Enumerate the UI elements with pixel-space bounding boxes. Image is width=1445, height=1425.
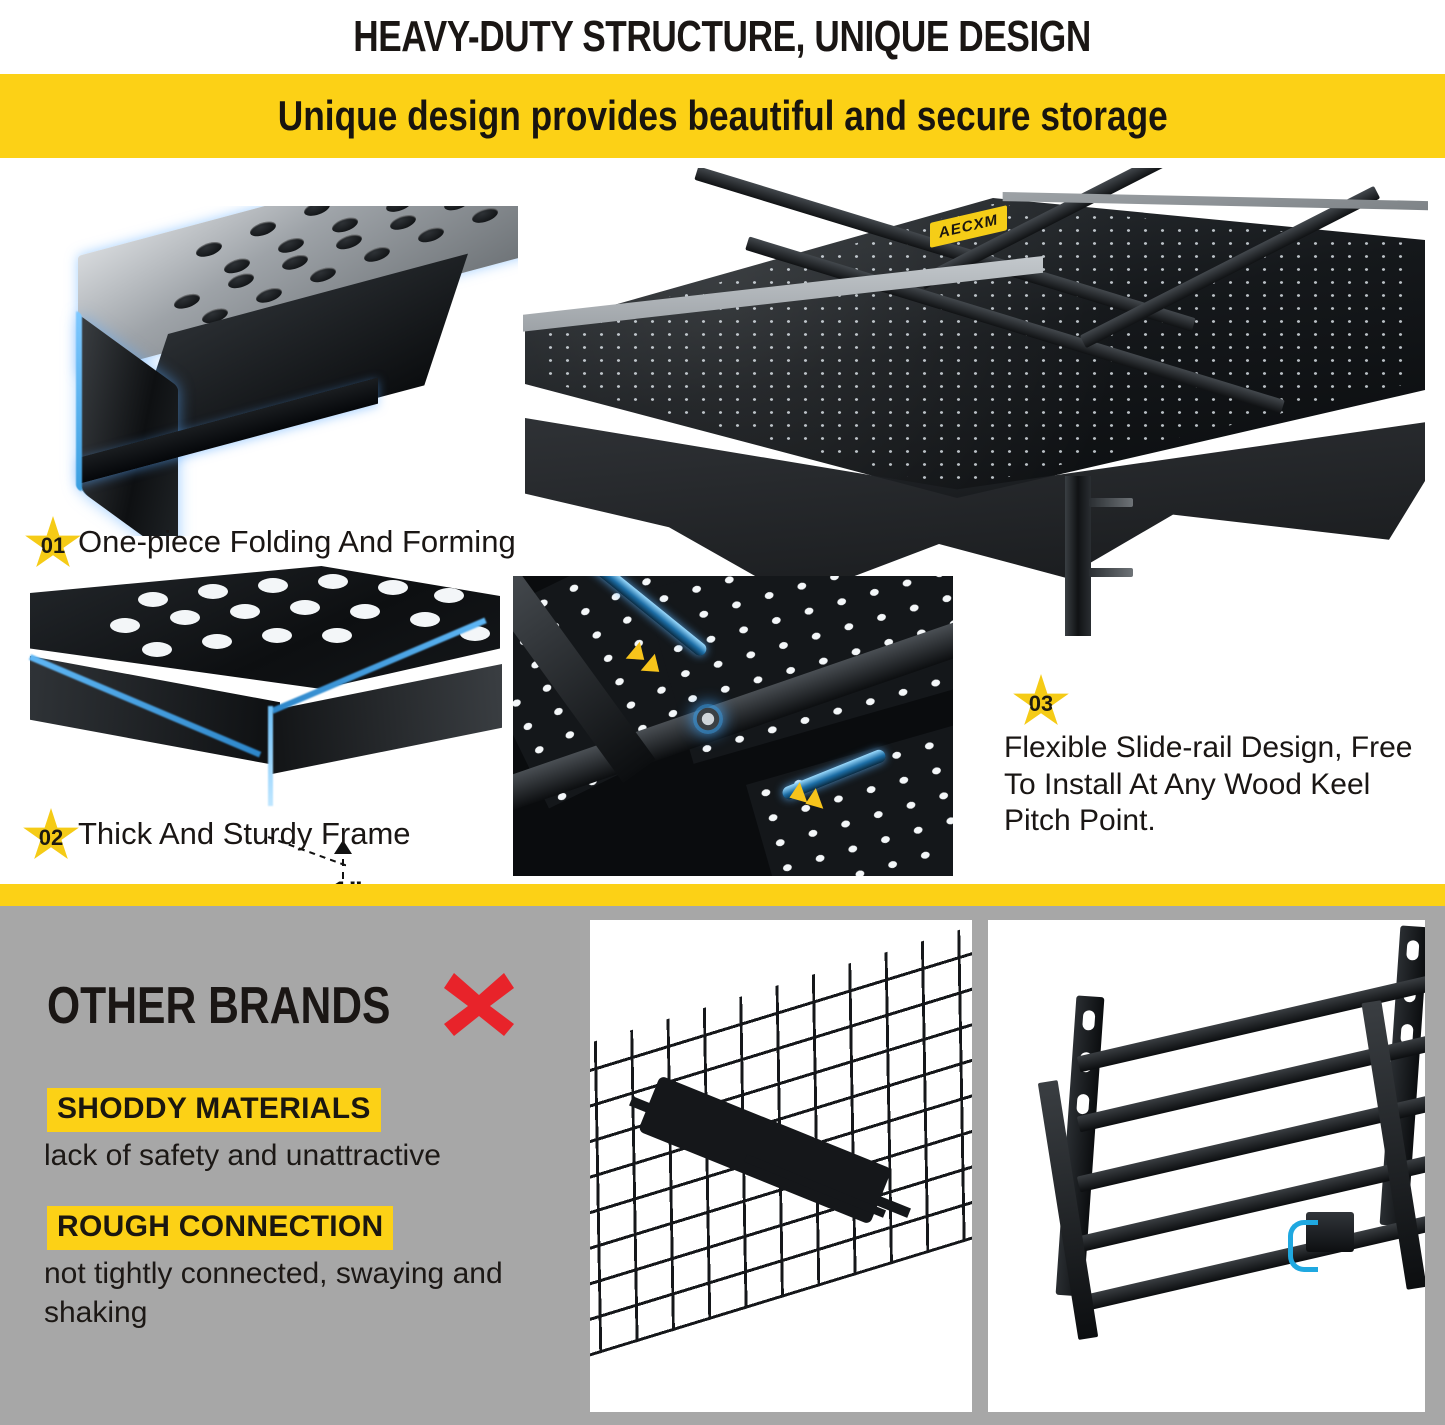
header-subtitle-bar: Unique design provides beautiful and sec… [0,74,1445,158]
feature-number-02: 02 [39,825,63,851]
rail-screw [693,704,723,734]
header-title-bar: HEAVY-DUTY STRUCTURE, UNIQUE DESIGN [0,0,1445,74]
flaw-desc-1: lack of safety and unattractive [44,1136,564,1175]
blue-corner-highlight [268,706,273,806]
blue-edge-highlight [76,310,82,492]
other-brands-heading: OTHER BRANDS [47,968,516,1043]
photo-competitor-wire-rack [590,920,972,1412]
flaw-tag-2: ROUGH CONNECTION [47,1206,393,1250]
red-x-icon [442,968,516,1043]
blue-hook-highlight [1288,1220,1318,1272]
flaw-desc-2: not tightly connected, swaying and shaki… [44,1254,564,1332]
flaw-tag-1: SHODDY MATERIALS [47,1088,381,1132]
feature-number-03: 03 [1029,691,1053,717]
feature-label-03: Flexible Slide-rail Design, Free To Inst… [1004,730,1434,840]
mounting-bolt [1089,498,1133,507]
feature-number-01: 01 [41,533,65,559]
other-brands-title: OTHER BRANDS [47,976,391,1036]
feature-label-01: One-piece Folding And Forming [78,523,516,561]
photo-thick-frame-corner [10,556,510,856]
photo-slide-rail-detail [513,576,953,876]
feature-label-02: Thick And Sturdy Frame [78,815,411,853]
page-title: HEAVY-DUTY STRUCTURE, UNIQUE DESIGN [354,12,1092,62]
photo-competitor-wall-rack [988,920,1425,1412]
mounting-bolt [1089,568,1133,577]
page-subtitle: Unique design provides beautiful and sec… [277,92,1167,140]
section-divider [0,884,1445,906]
photo-one-piece-channel [18,206,518,536]
wall-mount-post [1065,476,1091,636]
features-section: 1" AECXM 01 One-piece Folding [0,158,1445,884]
comparison-section: OTHER BRANDS SHODDY MATERIALS lack of sa… [0,906,1445,1425]
